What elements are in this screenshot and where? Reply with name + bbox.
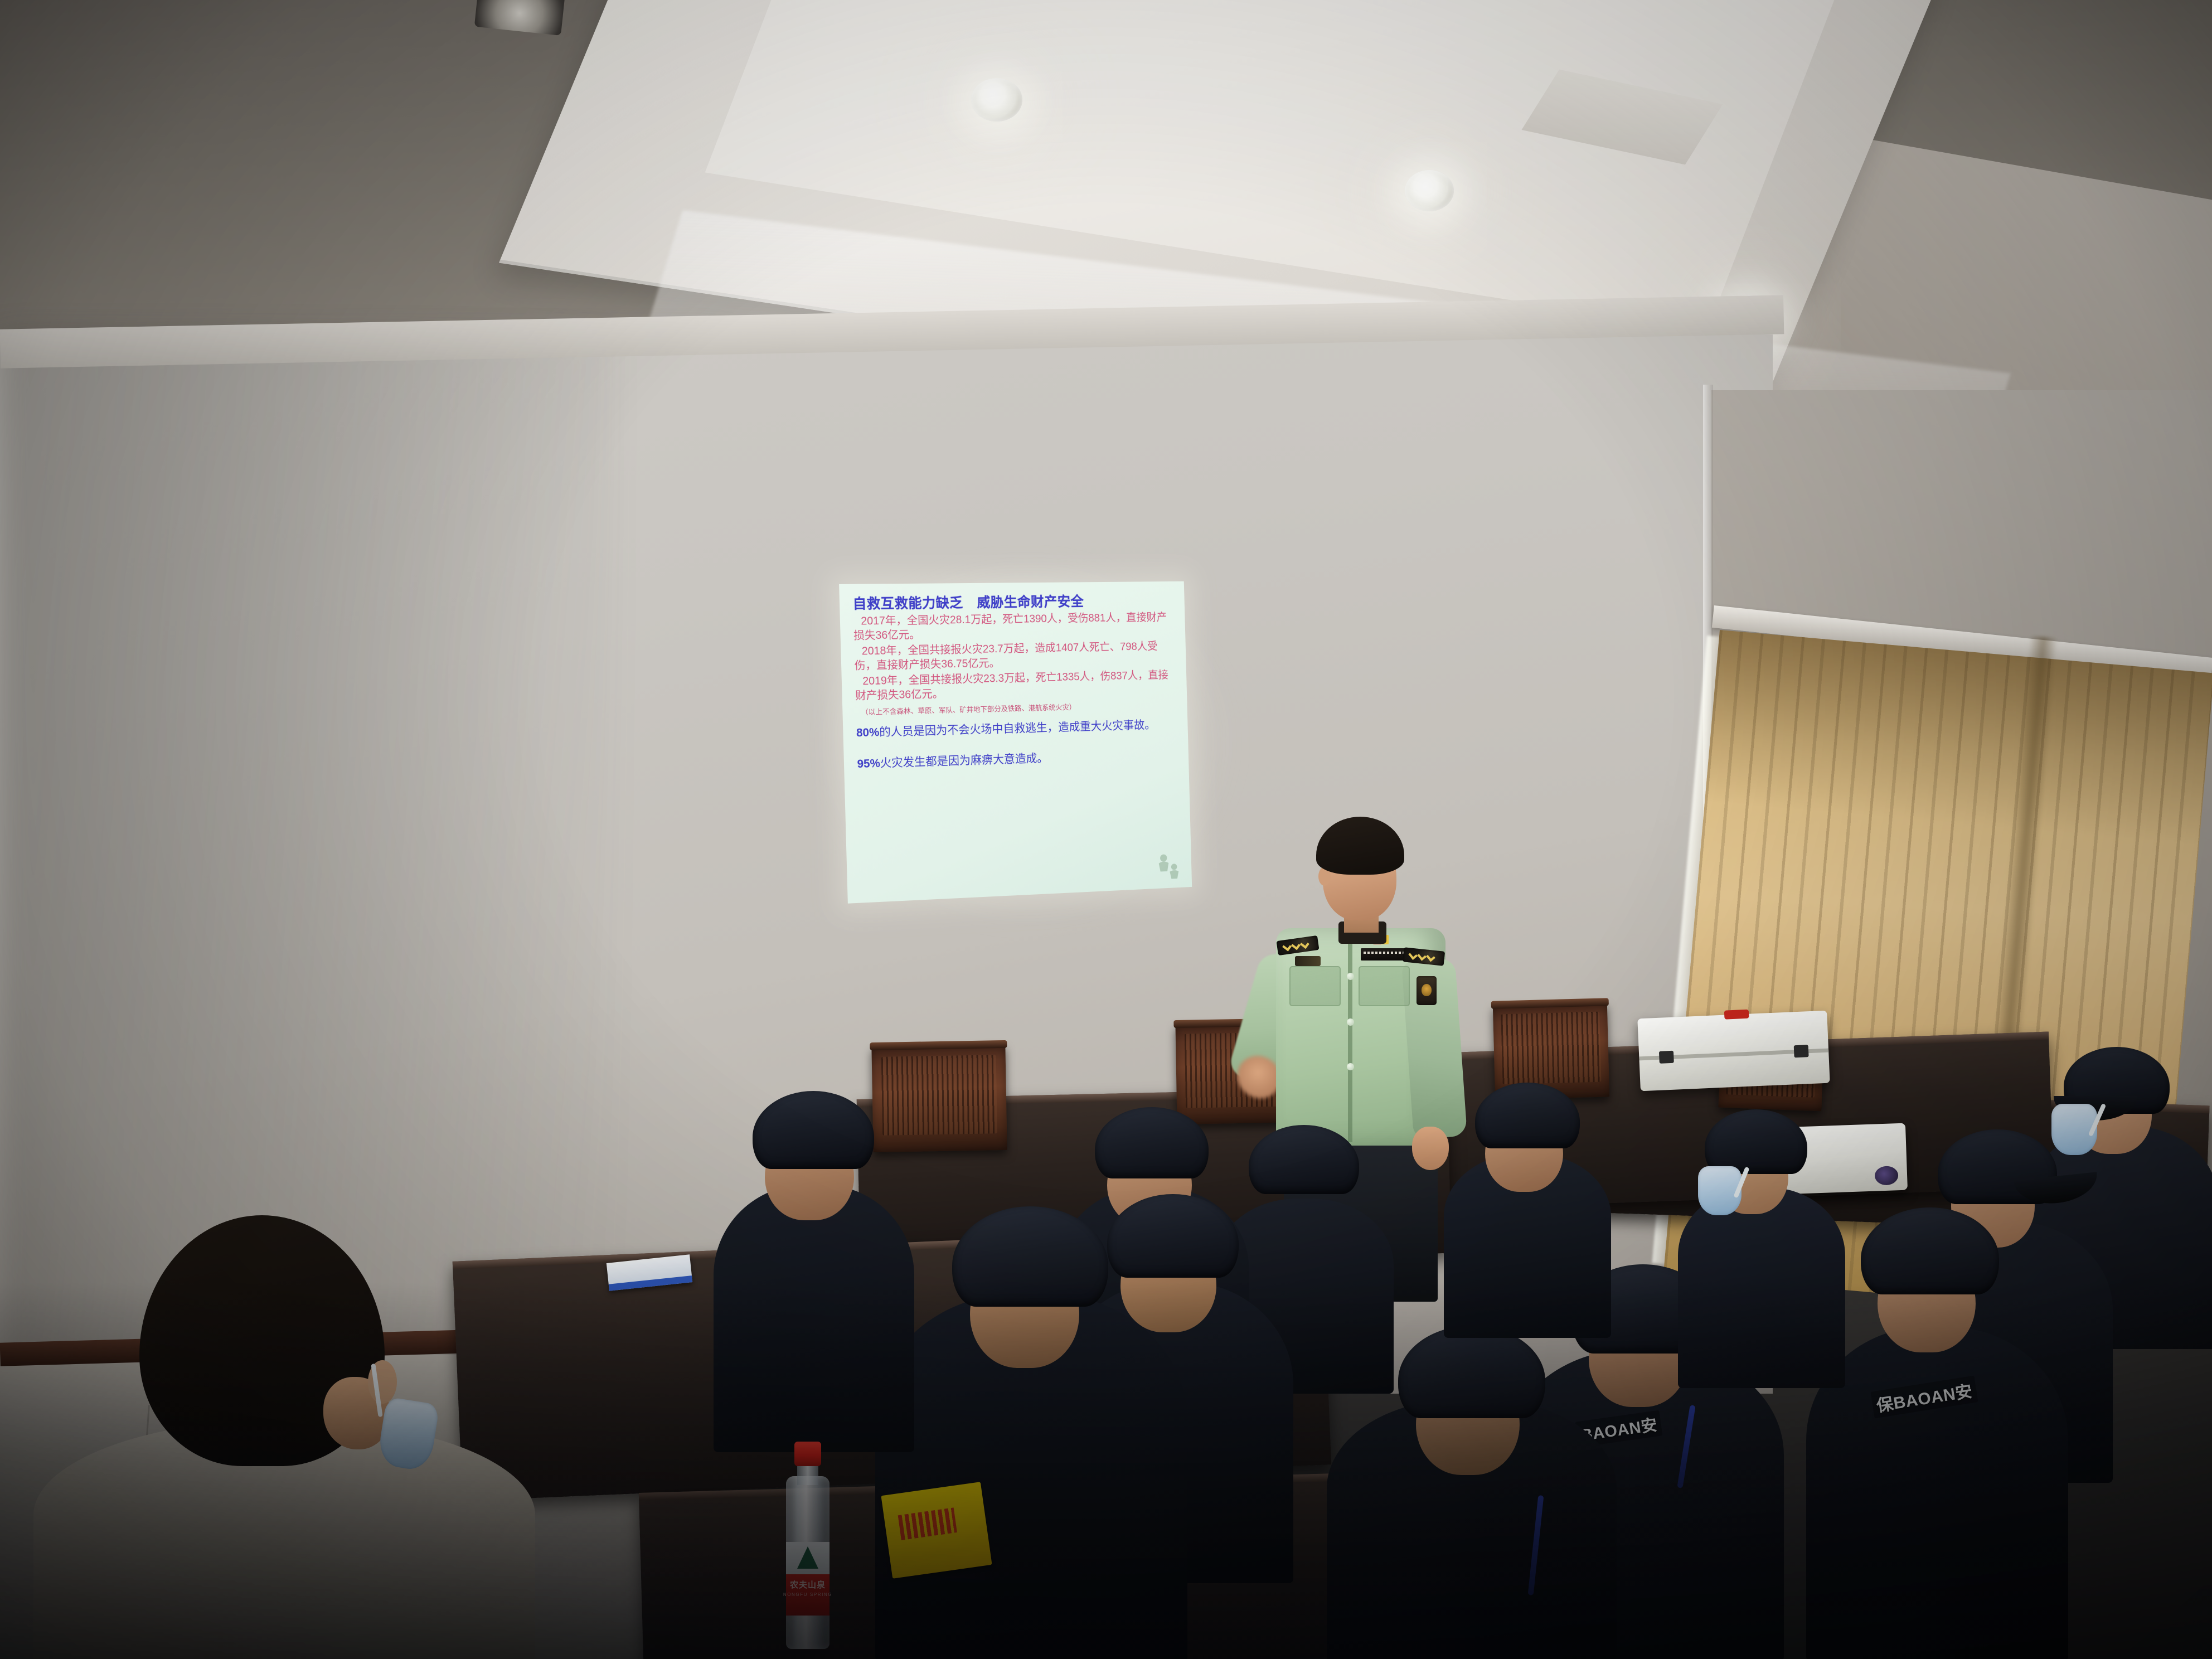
uniform-badge-left <box>1295 956 1321 966</box>
yellow-armband <box>881 1482 992 1579</box>
slide-title-part2: 威胁生命财产安全 <box>977 594 1084 610</box>
name-tag <box>1361 948 1406 961</box>
attendee-masked-guard <box>1678 1076 1845 1388</box>
slide-title: 自救互救能力缺乏威胁生命财产安全 <box>852 593 1171 612</box>
attendee-jacket <box>714 1185 914 1452</box>
projected-slide: 自救互救能力缺乏威胁生命财产安全 2017年，全国火灾28.1万起，死亡1390… <box>839 581 1192 904</box>
slide-highlight-80: 80%的人员是因为不会火场中自救逃生，造成重大火灾事故。 <box>856 718 1175 740</box>
attendee-foreground-beige <box>33 1193 535 1659</box>
shirt-pocket-left <box>1289 966 1341 1006</box>
training-room-photo: 自救互救能力缺乏威胁生命财产安全 2017年，全国火灾28.1万起，死亡1390… <box>0 0 2212 1659</box>
shoulder-arm-patch-icon <box>1417 976 1437 1005</box>
bottle-cap[interactable] <box>794 1442 821 1466</box>
ceiling-downlight-icon <box>971 78 1022 122</box>
attendee-jacket <box>1678 1187 1845 1388</box>
uniform-cap <box>1398 1326 1545 1418</box>
slide-highlight-95: 95%火灾发生都是因为麻痹大意造成。 <box>857 748 1175 772</box>
uniform-cap <box>1861 1207 1999 1294</box>
presenter-hair <box>1316 817 1404 875</box>
bottle-brand-cn: 农夫山泉 <box>783 1579 833 1590</box>
shirt-button-icon <box>1347 1018 1354 1026</box>
slide-highlight-95-text: 火灾发生都是因为麻痹大意造成。 <box>880 752 1048 770</box>
shirt-button-icon <box>1347 973 1354 980</box>
bottle-brand-en: NONGFU SPRING <box>783 1592 833 1597</box>
slide-title-part1: 自救互救能力缺乏 <box>852 595 963 612</box>
slide-statistics-list: 2017年，全国火灾28.1万起，死亡1390人，受伤881人，直接财产损失36… <box>853 610 1173 704</box>
attendee-left-guard <box>875 1176 1187 1659</box>
shirt-pocket-right <box>1359 966 1410 1006</box>
ceiling-downlight-icon <box>1405 170 1454 211</box>
mountain-logo-icon <box>797 1546 818 1569</box>
slide-footnote: （以上不含森林、草原、军队、矿井地下部分及铁路、港航系统火灾） <box>861 701 1175 717</box>
slide-stat-2017: 2017年，全国火灾28.1万起，死亡1390人，受伤881人，直接财产损失36… <box>853 610 1172 643</box>
uniform-cap <box>1475 1083 1580 1148</box>
slide-highlight-80-text: 的人员是因为不会火场中自救逃生，造成重大火灾事故。 <box>879 719 1156 739</box>
slide-highlight-95-pct: 95% <box>857 757 880 770</box>
slide-highlight-80-pct: 80% <box>856 726 880 740</box>
attendee-center-back <box>1444 1048 1611 1338</box>
uniform-cap <box>753 1091 874 1169</box>
attendee-jacket <box>1806 1327 2068 1659</box>
uniform-cap <box>952 1206 1108 1307</box>
shirt-button-icon <box>1347 1063 1354 1070</box>
attendee-security-guard-right: 保BAOAN安 <box>1806 1176 2068 1659</box>
slide-watermark-icon <box>1153 850 1183 882</box>
slide-stat-2019: 2019年，全国共接报火灾23.3万起，死亡1335人，伤837人，直接财产损失… <box>855 668 1173 703</box>
uniform-cap <box>1705 1109 1807 1174</box>
attendee-left-back <box>714 1062 914 1452</box>
slide-stat-2018: 2018年，全国共接报火灾23.7万起，造成1407人死亡、798人受伤，直接财… <box>854 639 1173 673</box>
water-bottle[interactable]: 农夫山泉 NONGFU SPRING <box>783 1437 833 1649</box>
